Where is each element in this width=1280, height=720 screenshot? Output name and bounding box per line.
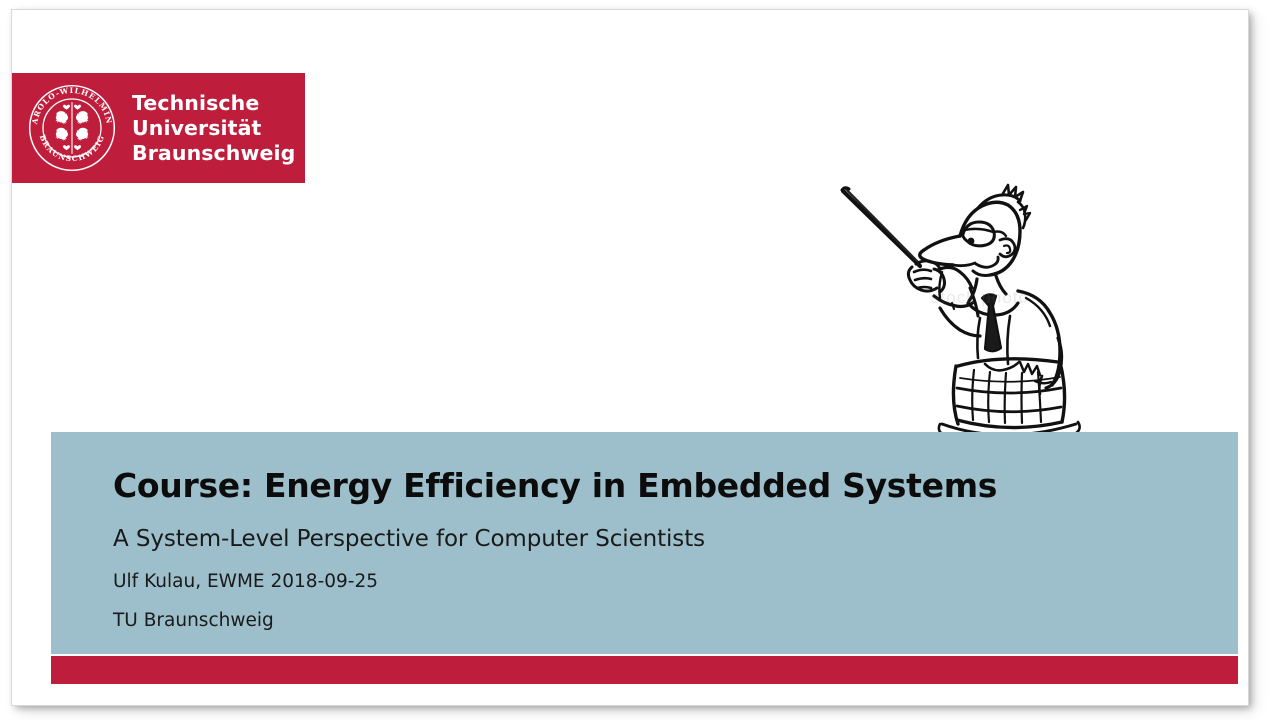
wordmark-line-1: Technische <box>132 91 295 116</box>
slide-affiliation: TU Braunschweig <box>113 609 1238 633</box>
slide-subtitle: A System-Level Perspective for Computer … <box>113 524 1238 554</box>
title-band: Course: Energy Efficiency in Embedded Sy… <box>51 432 1238 654</box>
cartoon-professor-illustration: stock photo <box>830 148 1120 448</box>
footer-accent-band <box>51 656 1238 684</box>
slide-author: Ulf Kulau, EWME 2018-09-25 <box>113 570 1238 594</box>
tu-braunschweig-seal-icon: CAROLO-WILHELMINA BRAUNSCHWEIG <box>26 82 118 174</box>
slide-sheet: CAROLO-WILHELMINA BRAUNSCHWEIG <box>12 10 1248 705</box>
tu-braunschweig-wordmark: Technische Universität Braunschweig <box>132 91 295 166</box>
slide-title: Course: Energy Efficiency in Embedded Sy… <box>113 466 1238 506</box>
svg-text:CAROLO-WILHELMINA: CAROLO-WILHELMINA <box>26 82 114 126</box>
wordmark-line-2: Universität <box>132 116 295 141</box>
slide-viewer: CAROLO-WILHELMINA BRAUNSCHWEIG <box>0 0 1280 720</box>
tu-braunschweig-logo-bar: CAROLO-WILHELMINA BRAUNSCHWEIG <box>12 73 305 183</box>
wordmark-line-3: Braunschweig <box>132 141 295 166</box>
